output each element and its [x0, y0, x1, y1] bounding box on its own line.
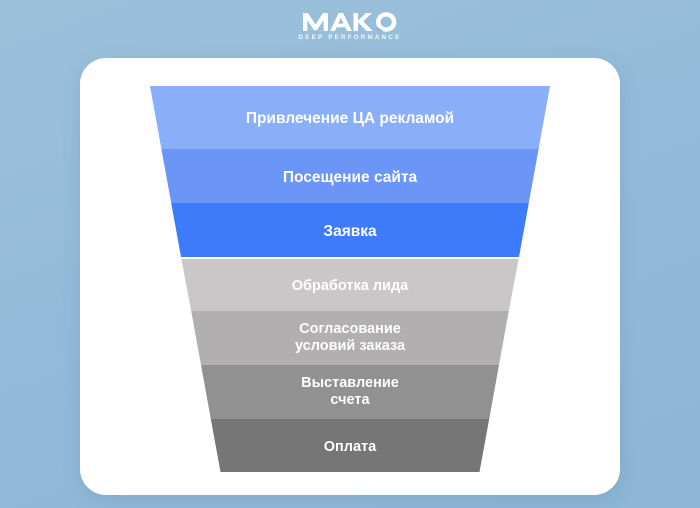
mako-wordmark-icon	[303, 12, 397, 32]
funnel-segment-5-label-line2: условий заказа	[295, 338, 406, 354]
brand-logo: DEEP PERFORMANCE	[0, 12, 700, 41]
funnel-segment-6-label-line1: Выставление	[301, 375, 399, 391]
funnel-segment-6[interactable]: Выставление счета	[201, 365, 499, 419]
funnel-segment-3-label: Заявка	[323, 223, 377, 240]
funnel-segment-5-label-line1: Согласование	[299, 321, 401, 337]
funnel-segment-4-label: Обработка лида	[292, 278, 409, 294]
funnel-segment-5[interactable]: Согласование условий заказа	[191, 311, 509, 365]
page-background: DEEP PERFORMANCE Привлечение ЦА рекламой…	[0, 0, 700, 508]
funnel-segment-6-label-line2: счета	[330, 392, 370, 408]
funnel-segment-3[interactable]: Заявка	[171, 203, 529, 257]
funnel-segments: Привлечение ЦА рекламой Посещение сайта …	[150, 86, 550, 472]
sales-funnel-chart: Привлечение ЦА рекламой Посещение сайта …	[80, 58, 620, 495]
funnel-segment-2-label: Посещение сайта	[283, 169, 418, 186]
content-card: Привлечение ЦА рекламой Посещение сайта …	[80, 58, 620, 495]
funnel-segment-7-label: Оплата	[324, 439, 377, 455]
funnel-segment-2[interactable]: Посещение сайта	[161, 149, 538, 203]
brand-tagline: DEEP PERFORMANCE	[299, 35, 402, 41]
funnel-segment-7[interactable]: Оплата	[211, 419, 489, 472]
funnel-segment-1-label: Привлечение ЦА рекламой	[246, 110, 454, 127]
funnel-segment-1[interactable]: Привлечение ЦА рекламой	[150, 86, 550, 149]
funnel-segment-4[interactable]: Обработка лида	[181, 259, 518, 311]
